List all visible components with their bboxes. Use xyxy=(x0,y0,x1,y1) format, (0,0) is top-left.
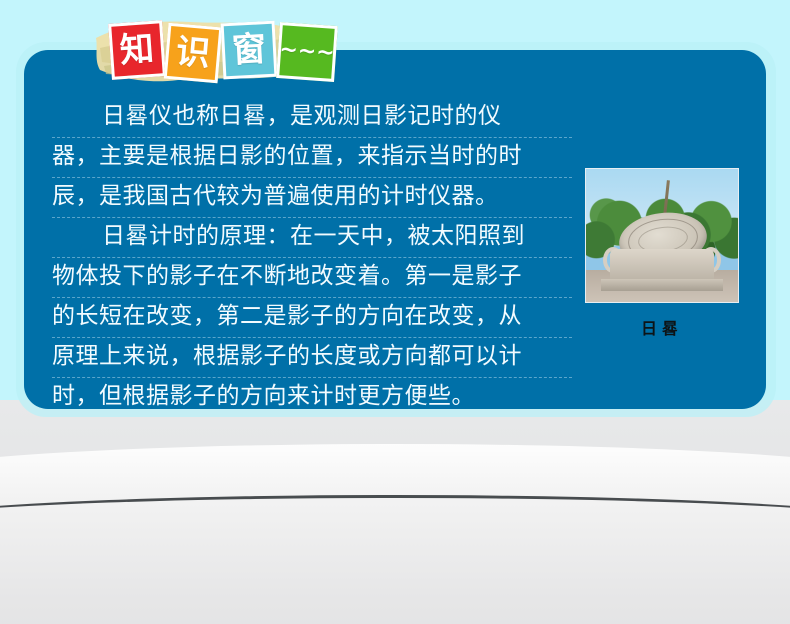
sundial-plinth xyxy=(601,279,723,291)
text-line-4: 日晷计时的原理：在一天中，被太阳照到 xyxy=(52,218,572,258)
text-line-6: 的长短在改变，第二是影子的方向在改变，从 xyxy=(52,298,572,338)
text-line-8: 时，但根据影子的方向来计时更方便些。 xyxy=(52,378,572,418)
text-line-7: 原理上来说，根据影子的长度或方向都可以计 xyxy=(52,338,572,378)
badge-tiles: 知 识 窗 ~~~ xyxy=(88,8,318,94)
text-line-2: 器，主要是根据日影的位置，来指示当时的时 xyxy=(52,138,572,178)
sundial-figure: 日晷 xyxy=(585,168,739,339)
article-body: 日晷仪也称日晷，是观测日影记时的仪 器，主要是根据日影的位置，来指示当时的时 辰… xyxy=(52,98,572,418)
badge-tile-3: 窗 xyxy=(221,21,278,80)
sundial-photo xyxy=(585,168,739,303)
badge-tile-2: 识 xyxy=(164,23,223,83)
badge-tile-4: ~~~ xyxy=(276,22,338,82)
text-line-1: 日晷仪也称日晷，是观测日影记时的仪 xyxy=(52,98,572,138)
knowledge-window-badge: 知 识 窗 ~~~ xyxy=(88,8,318,94)
badge-tile-1: 知 xyxy=(108,20,166,80)
shelf-edge-line xyxy=(0,495,790,555)
background-lower-decoration xyxy=(0,400,790,624)
knowledge-card: 知 识 窗 ~~~ 日晷仪也称日晷，是观测日影记时的仪 器，主要是根据日影的位置… xyxy=(24,50,766,409)
text-line-5: 物体投下的影子在不断地改变着。第一是影子 xyxy=(52,258,572,298)
sundial-base xyxy=(610,249,713,284)
text-line-3: 辰，是我国古代较为普遍使用的计时仪器。 xyxy=(52,178,572,218)
figure-caption: 日晷 xyxy=(585,315,739,339)
page-root: 知 识 窗 ~~~ 日晷仪也称日晷，是观测日影记时的仪 器，主要是根据日影的位置… xyxy=(0,0,790,624)
